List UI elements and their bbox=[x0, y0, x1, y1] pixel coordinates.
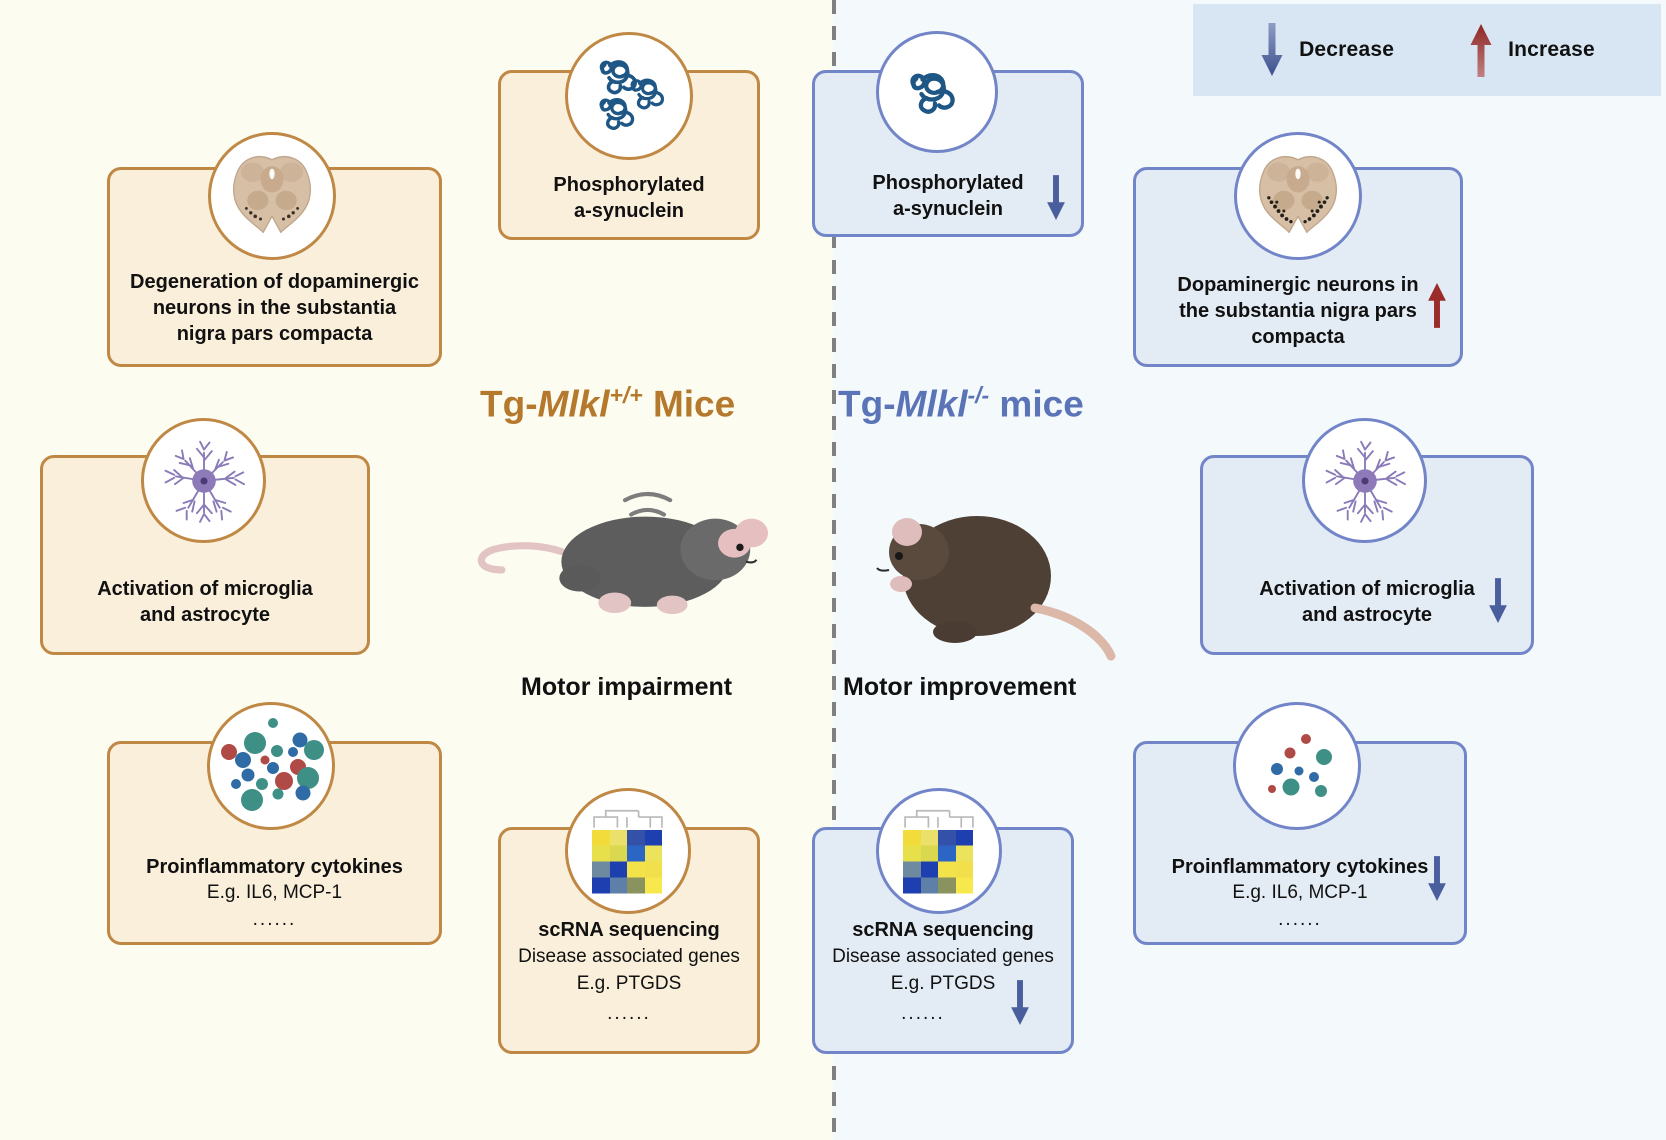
legend-item-decrease: Decrease bbox=[1259, 23, 1394, 77]
legend: Decrease Increase bbox=[1193, 4, 1661, 96]
arrow-down-icon bbox=[1487, 578, 1509, 629]
legend-label-decrease: Decrease bbox=[1299, 38, 1394, 62]
card-line2: E.g. IL6, MCP-1 bbox=[110, 881, 439, 905]
arrow-down-icon bbox=[1259, 23, 1285, 77]
card-line3: compacta bbox=[1136, 325, 1460, 350]
label-wt-suffix: Mice bbox=[643, 383, 736, 424]
heatmap-dendrogram-icon bbox=[876, 788, 1002, 914]
motor-label-left: Motor impairment bbox=[521, 673, 732, 702]
arrow-down-icon bbox=[1009, 980, 1031, 1031]
midbrain-section-icon bbox=[1234, 132, 1362, 260]
legend-label-increase: Increase bbox=[1508, 38, 1595, 62]
microglia-cell-icon bbox=[1302, 418, 1427, 543]
card-title: scRNA sequencing bbox=[501, 918, 757, 943]
card-title: Phosphorylated bbox=[815, 171, 1081, 196]
label-wildtype-genotype: Tg-Mlkl+/+ Mice bbox=[480, 382, 735, 425]
motor-label-right: Motor improvement bbox=[843, 673, 1076, 702]
card-line3: E.g. PTGDS bbox=[815, 972, 1071, 996]
card-line2: Disease associated genes bbox=[815, 945, 1071, 969]
arrow-down-icon bbox=[1426, 856, 1448, 907]
card-line3: E.g. PTGDS bbox=[501, 972, 757, 996]
card-title: Proinflammatory cytokines bbox=[1136, 855, 1464, 880]
arrow-down-icon bbox=[1045, 175, 1067, 226]
label-wt-gene: Mlkl bbox=[538, 383, 610, 424]
card-title: Degeneration of dopaminergic bbox=[110, 270, 439, 295]
card-line3: nigra pars compacta bbox=[110, 322, 439, 347]
midbrain-section-icon bbox=[208, 132, 336, 260]
label-wt-prefix: Tg- bbox=[480, 383, 538, 424]
card-line3: ...... bbox=[110, 908, 439, 932]
card-title: scRNA sequencing bbox=[815, 918, 1071, 943]
card-title: Activation of microglia bbox=[43, 577, 367, 602]
label-ko-suffix: mice bbox=[989, 383, 1084, 424]
sitting-mouse-icon bbox=[845, 480, 1145, 670]
card-line2: a-synuclein bbox=[501, 199, 757, 224]
label-ko-prefix: Tg- bbox=[838, 383, 896, 424]
card-title: Activation of microglia bbox=[1203, 577, 1531, 602]
cytokine-dots-icon bbox=[1233, 702, 1361, 830]
label-wt-sup: +/+ bbox=[610, 382, 643, 408]
label-knockout-genotype: Tg-Mlkl-/- mice bbox=[838, 382, 1084, 425]
card-line2: neurons in the substantia bbox=[110, 296, 439, 321]
legend-item-increase: Increase bbox=[1468, 23, 1595, 77]
card-title: Dopaminergic neurons in bbox=[1136, 273, 1460, 298]
card-line4: ...... bbox=[501, 1002, 757, 1026]
protein-aggregate-icon bbox=[565, 32, 693, 160]
lying-mouse-icon bbox=[470, 455, 780, 650]
card-line2: and astrocyte bbox=[1203, 603, 1531, 628]
card-line3: ...... bbox=[1136, 908, 1464, 932]
card-line2: a-synuclein bbox=[815, 197, 1081, 222]
microglia-cell-icon bbox=[141, 418, 266, 543]
cytokine-dots-icon bbox=[207, 702, 335, 830]
card-title: Phosphorylated bbox=[501, 173, 757, 198]
arrow-up-icon bbox=[1468, 23, 1494, 77]
label-ko-sup: -/- bbox=[968, 382, 990, 408]
card-line2: E.g. IL6, MCP-1 bbox=[1136, 881, 1464, 905]
heatmap-dendrogram-icon bbox=[565, 788, 691, 914]
protein-aggregate-icon bbox=[876, 31, 998, 153]
card-line2: and astrocyte bbox=[43, 603, 367, 628]
card-line2: the substantia nigra pars bbox=[1136, 299, 1460, 324]
label-ko-gene: Mlkl bbox=[896, 383, 968, 424]
arrow-up-icon bbox=[1426, 282, 1448, 333]
card-line2: Disease associated genes bbox=[501, 945, 757, 969]
card-title: Proinflammatory cytokines bbox=[110, 855, 439, 880]
